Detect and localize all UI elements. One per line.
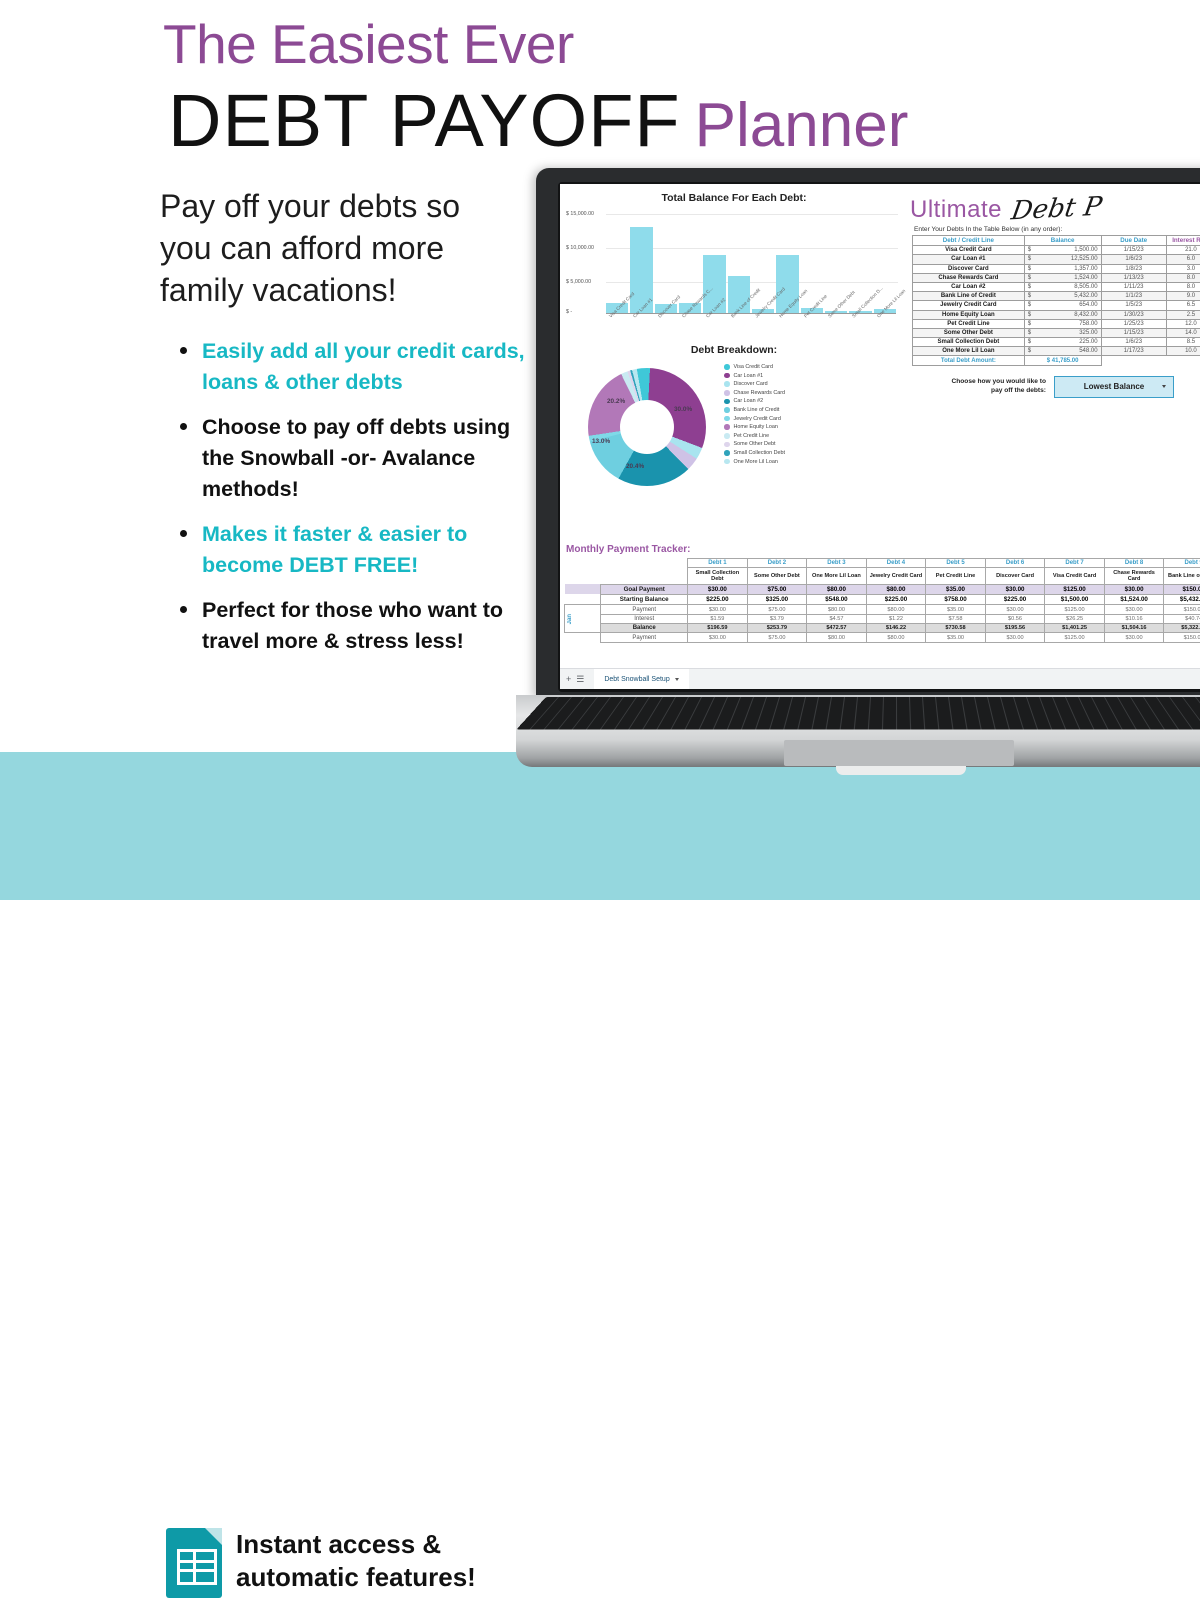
- tracker-cell[interactable]: $150.00: [1164, 605, 1200, 614]
- debt-table[interactable]: Debt / Credit Line Balance Due Date Inte…: [912, 235, 1200, 366]
- tracker-cell[interactable]: $5,432.00: [1164, 594, 1200, 604]
- lead-paragraph: Pay off your debts so you can afford mor…: [160, 186, 500, 312]
- x-tick-label: Visa Credit Card: [606, 314, 628, 336]
- tracker-cell[interactable]: Debt 3: [807, 559, 867, 568]
- tracker-table[interactable]: Debt 1Debt 2Debt 3Debt 4Debt 5Debt 6Debt…: [564, 558, 1200, 643]
- y-tick-label: $ -: [566, 309, 572, 315]
- laptop-trackpad: [784, 740, 1014, 766]
- tracker-cell[interactable]: $80.00: [866, 633, 926, 642]
- tracker-cell[interactable]: Debt 2: [747, 559, 807, 568]
- legend-item: Chase Rewards Card: [724, 390, 894, 396]
- tracker-cell[interactable]: $30.00: [1104, 633, 1164, 642]
- tracker-cell[interactable]: $758.00: [926, 594, 986, 604]
- x-tick-label: Car Loan #1: [630, 314, 652, 336]
- tracker-cell[interactable]: $30.00: [985, 633, 1045, 642]
- row-label-start: Starting Balance: [601, 594, 688, 604]
- legend-item: Small Collection Debt: [724, 450, 894, 456]
- laptop-bezel: Total Balance For Each Debt: $ 15,000.00…: [558, 182, 1200, 692]
- tracker-cell[interactable]: Visa Credit Card: [1045, 568, 1105, 584]
- tracker-cell[interactable]: $75.00: [747, 605, 807, 614]
- sheet-tab-active[interactable]: Debt Snowball Setup: [594, 669, 688, 689]
- tracker-cell[interactable]: $1.59: [688, 614, 748, 623]
- laptop-keyboard: [516, 697, 1200, 729]
- tracker-payment-row: JanPayment$30.00$75.00$80.00$80.00$35.00…: [565, 605, 1200, 614]
- tracker-cell[interactable]: $80.00: [807, 605, 867, 614]
- laptop-notch: [836, 766, 966, 775]
- slice-percent-label: 30.0%: [674, 406, 692, 413]
- tracker-cell[interactable]: $75.00: [747, 633, 807, 642]
- tracker-cell[interactable]: $4.57: [807, 614, 867, 623]
- tracker-start-row: Starting Balance$225.00$325.00$548.00$22…: [565, 594, 1200, 604]
- laptop-lid: Total Balance For Each Debt: $ 15,000.00…: [536, 168, 1200, 698]
- slice-percent-label: 20.4%: [626, 463, 644, 470]
- tracker-cell[interactable]: Debt 1: [688, 559, 748, 568]
- month-label: Jan: [565, 605, 601, 633]
- tracker-cell[interactable]: $35.00: [926, 605, 986, 614]
- chevron-down-icon: [1162, 385, 1166, 388]
- tracker-cell[interactable]: $472.57: [807, 624, 867, 633]
- table-row[interactable]: Pet Credit Line$758.001/25/2312.0: [913, 319, 1200, 328]
- all-sheets-icon[interactable]: ☰: [576, 674, 584, 685]
- x-tick-label: Jewelry Credit Card: [752, 314, 774, 336]
- tracker-cell[interactable]: Chase Rewards Card: [1104, 568, 1164, 584]
- x-tick-label: Some Other Debt: [825, 314, 847, 336]
- table-header-row: Debt / Credit Line Balance Due Date Inte…: [913, 236, 1200, 246]
- bar-chart-x-labels: Visa Credit CardCar Loan #1Discover Card…: [606, 314, 896, 336]
- legend-item: Home Equity Loan: [724, 424, 894, 430]
- table-row[interactable]: One More Lil Loan$548.001/17/2310.0: [913, 347, 1200, 356]
- tracker-cell[interactable]: $75.00: [747, 584, 807, 594]
- tracker-cell[interactable]: $1,401.25: [1045, 624, 1105, 633]
- tracker-cell[interactable]: $26.25: [1045, 614, 1105, 623]
- legend-item: Visa Credit Card: [724, 364, 894, 370]
- tracker-cell[interactable]: $125.00: [1045, 633, 1105, 642]
- tracker-cell[interactable]: One More Lil Loan: [807, 568, 867, 584]
- google-sheets-icon: [166, 1528, 222, 1598]
- tracker-debtname-row: Small Collection DebtSome Other DebtOne …: [565, 568, 1200, 584]
- slice-percent-label: 13.0%: [592, 438, 610, 445]
- table-row[interactable]: Small Collection Debt$225.001/6/238.5: [913, 338, 1200, 347]
- tracker-cell[interactable]: $35.00: [926, 633, 986, 642]
- th-due-date: Due Date: [1101, 236, 1166, 246]
- tracker-cell[interactable]: Jewelry Credit Card: [866, 568, 926, 584]
- tracker-cell[interactable]: $30.00: [985, 584, 1045, 594]
- headline-block: The Easiest Ever DEBT PAYOFFPlanner: [0, 0, 1200, 172]
- chevron-down-icon[interactable]: [675, 678, 679, 681]
- tracker-cell[interactable]: $150.00: [1164, 584, 1200, 594]
- tracker-cell[interactable]: $0.56: [985, 614, 1045, 623]
- tracker-cell[interactable]: Debt 4: [866, 559, 926, 568]
- headline-main-title: DEBT PAYOFF: [168, 79, 681, 162]
- table-row[interactable]: Discover Card$1,357.001/8/233.0: [913, 264, 1200, 273]
- tracker-goal-row: Goal Payment$30.00$75.00$80.00$80.00$35.…: [565, 584, 1200, 594]
- tracker-cell[interactable]: $1,500.00: [1045, 594, 1105, 604]
- x-tick-label: Bank Line of Credit: [728, 314, 750, 336]
- tracker-cell[interactable]: $125.00: [1045, 605, 1105, 614]
- legend-item: Car Loan #2: [724, 398, 894, 404]
- row-label-payment2: Payment: [601, 633, 688, 642]
- legend-item: Jewelry Credit Card: [724, 416, 894, 422]
- legend-item: Some Other Debt: [724, 441, 894, 447]
- tracker-cell[interactable]: $30.00: [1104, 584, 1164, 594]
- th-interest-rate: Interest Rate: [1166, 236, 1200, 246]
- tracker-cell[interactable]: $548.00: [807, 594, 867, 604]
- row-label-payment: Payment: [601, 605, 688, 614]
- legend-item: Pet Credit Line: [724, 433, 894, 439]
- table-row[interactable]: Car Loan #2$8,505.001/11/238.0: [913, 282, 1200, 291]
- tracker-cell[interactable]: $80.00: [866, 605, 926, 614]
- tracker-cell[interactable]: $30.00: [688, 605, 748, 614]
- spreadsheet: Total Balance For Each Debt: $ 15,000.00…: [560, 184, 1200, 689]
- donut-ring: [588, 368, 706, 486]
- tracker-cell[interactable]: Some Other Debt: [747, 568, 807, 584]
- tracker-balance-row: Balance$196.59$253.79$472.57$146.22$730.…: [565, 624, 1200, 633]
- tracker-cell[interactable]: $146.22: [866, 624, 926, 633]
- list-item: Choose to pay off debts using the Snowba…: [172, 412, 532, 505]
- tracker-cell[interactable]: $30.00: [1104, 605, 1164, 614]
- x-tick-label: Car Loan #2: [703, 314, 725, 336]
- tracker-cell[interactable]: $80.00: [807, 633, 867, 642]
- tracker-cell[interactable]: $195.56: [985, 624, 1045, 633]
- charts-column: Total Balance For Each Debt: $ 15,000.00…: [564, 188, 904, 512]
- tracker-cell[interactable]: $150.00: [1164, 633, 1200, 642]
- slice-percent-label: 20.2%: [607, 398, 625, 405]
- tracker-cell[interactable]: Debt 6: [985, 559, 1045, 568]
- tracker-payment-row2: Payment$30.00$75.00$80.00$80.00$35.00$30…: [565, 633, 1200, 642]
- x-tick-label: Small Collection D...: [849, 314, 871, 336]
- row-label-interest: Interest: [601, 614, 688, 623]
- dropdown-value: Lowest Balance: [1084, 382, 1144, 391]
- table-row[interactable]: Visa Credit Card$1,500.001/15/2321.0: [913, 246, 1200, 255]
- tracker-cell[interactable]: $3.79: [747, 614, 807, 623]
- headline-suffix: Planner: [695, 91, 909, 160]
- payoff-method-dropdown[interactable]: Lowest Balance: [1054, 376, 1174, 398]
- tracker-cell[interactable]: Debt 9: [1164, 559, 1200, 568]
- tracker-cell[interactable]: $40.74: [1164, 614, 1200, 623]
- headline-line1: The Easiest Ever: [163, 12, 574, 76]
- list-item: Easily add all your credit cards, loans …: [172, 336, 532, 398]
- list-item: Makes it faster & easier to become DEBT …: [172, 519, 532, 581]
- row-label-balance: Balance: [601, 624, 688, 633]
- x-tick-label: Home Equity Loan: [776, 314, 798, 336]
- laptop-screen: Total Balance For Each Debt: $ 15,000.00…: [560, 184, 1200, 689]
- legend-item: Bank Line of Credit: [724, 407, 894, 413]
- payoff-method-chooser: Choose how you would like to pay off the…: [942, 376, 1200, 398]
- tracker-debtnum-row: Debt 1Debt 2Debt 3Debt 4Debt 5Debt 6Debt…: [565, 559, 1200, 568]
- list-item: Perfect for those who want to travel mor…: [172, 595, 532, 657]
- tracker-cell[interactable]: $30.00: [985, 605, 1045, 614]
- legend-item: Car Loan #1: [724, 373, 894, 379]
- tracker-cell[interactable]: $225.00: [985, 594, 1045, 604]
- y-tick-label: $ 5,000.00: [566, 279, 591, 285]
- debt-table-column: Ultimate Debt P Enter Your Debts In the …: [908, 188, 1200, 398]
- enter-debts-note: Enter Your Debts In the Table Below (in …: [914, 226, 1200, 233]
- sheet-tab-bar[interactable]: + ☰ Debt Snowball Setup: [560, 668, 1200, 689]
- add-sheet-icon[interactable]: +: [566, 674, 571, 684]
- tracker-cell[interactable]: $30.00: [688, 633, 748, 642]
- x-tick-label: Pet Credit Line: [801, 314, 823, 336]
- tracker-cell[interactable]: $80.00: [866, 584, 926, 594]
- tracker-cell[interactable]: $196.59: [688, 624, 748, 633]
- tracker-cell[interactable]: $730.58: [926, 624, 986, 633]
- y-tick-label: $ 15,000.00: [566, 211, 594, 217]
- monthly-payment-tracker: Monthly Payment Tracker: Debt 1Debt 2Deb…: [564, 544, 1200, 643]
- total-row: Total Debt Amount:$ 41,785.00: [913, 356, 1200, 365]
- tracker-cell[interactable]: Debt 5: [926, 559, 986, 568]
- x-tick-label: Discover Card: [655, 314, 677, 336]
- tracker-cell[interactable]: $1.22: [866, 614, 926, 623]
- tracker-title: Monthly Payment Tracker:: [566, 544, 1200, 555]
- donut-chart-title: Debt Breakdown:: [564, 344, 904, 356]
- tracker-cell[interactable]: $325.00: [747, 594, 807, 604]
- tracker-cell[interactable]: $10.16: [1104, 614, 1164, 623]
- tracker-cell[interactable]: Bank Line of Credit: [1164, 568, 1200, 584]
- table-row[interactable]: Bank Line of Credit$5,432.001/1/239.0: [913, 292, 1200, 301]
- table-row[interactable]: Jewelry Credit Card$654.001/5/236.5: [913, 301, 1200, 310]
- sheet-title: Ultimate Debt P: [910, 194, 1200, 224]
- tracker-cell[interactable]: $5,322.74: [1164, 624, 1200, 633]
- tracker-cell[interactable]: $7.58: [926, 614, 986, 623]
- sheet-tab-label: Debt Snowball Setup: [604, 676, 669, 683]
- payoff-method-label: Choose how you would like to pay off the…: [942, 378, 1046, 396]
- table-row[interactable]: Home Equity Loan$8,432.001/30/232.5: [913, 310, 1200, 319]
- tracker-cell[interactable]: Discover Card: [985, 568, 1045, 584]
- tracker-interest-row: Interest$1.59$3.79$4.57$1.22$7.58$0.56$2…: [565, 614, 1200, 623]
- tracker-cell[interactable]: $1,504.16: [1104, 624, 1164, 633]
- tracker-cell[interactable]: $125.00: [1045, 584, 1105, 594]
- row-label-goal: Goal Payment: [601, 584, 688, 594]
- donut-legend: Visa Credit CardCar Loan #1Discover Card…: [724, 364, 894, 467]
- laptop-mockup: Total Balance For Each Debt: $ 15,000.00…: [520, 168, 1200, 768]
- benefits-list: Easily add all your credit cards, loans …: [172, 336, 532, 671]
- tracker-cell[interactable]: $80.00: [807, 584, 867, 594]
- x-tick-label: Chase Rewards C...: [679, 314, 701, 336]
- legend-item: One More Lil Loan: [724, 459, 894, 465]
- sheet-title-script: Debt P: [1009, 192, 1104, 227]
- th-balance: Balance: [1024, 236, 1101, 246]
- table-row[interactable]: Car Loan #1$12,525.001/6/236.0: [913, 255, 1200, 264]
- table-row[interactable]: Some Other Debt$325.001/15/2314.0: [913, 328, 1200, 337]
- tracker-cell[interactable]: $35.00: [926, 584, 986, 594]
- tracker-cell[interactable]: Small Collection Debt: [688, 568, 748, 584]
- x-tick-label: One More Lil Loan: [874, 314, 896, 336]
- tracker-cell[interactable]: $225.00: [866, 594, 926, 604]
- headline-line2: DEBT PAYOFFPlanner: [168, 78, 908, 163]
- bar-chart: $ 15,000.00 $ 10,000.00 $ 5,000.00 $ - V…: [566, 206, 898, 336]
- donut-chart: 30.0% 20.4% 13.0% 20.2% Visa Credit Card…: [564, 362, 904, 512]
- sheet-title-ultimate: Ultimate: [910, 196, 1002, 224]
- bottom-banner: Instant access & automatic features!: [0, 752, 1200, 900]
- legend-item: Discover Card: [724, 381, 894, 387]
- tracker-cell[interactable]: Debt 8: [1104, 559, 1164, 568]
- tracker-cell[interactable]: Debt 7: [1045, 559, 1105, 568]
- tracker-cell[interactable]: $253.79: [747, 624, 807, 633]
- tracker-cell[interactable]: Pet Credit Line: [926, 568, 986, 584]
- banner-text: Instant access & automatic features!: [236, 1528, 566, 1595]
- bar-chart-title: Total Balance For Each Debt:: [564, 192, 904, 204]
- th-debt-line: Debt / Credit Line: [913, 236, 1025, 246]
- y-tick-label: $ 10,000.00: [566, 245, 594, 251]
- tracker-cell[interactable]: $1,524.00: [1104, 594, 1164, 604]
- table-row[interactable]: Chase Rewards Card$1,524.001/13/238.0: [913, 273, 1200, 282]
- tracker-cell[interactable]: $225.00: [688, 594, 748, 604]
- tracker-cell[interactable]: $30.00: [688, 584, 748, 594]
